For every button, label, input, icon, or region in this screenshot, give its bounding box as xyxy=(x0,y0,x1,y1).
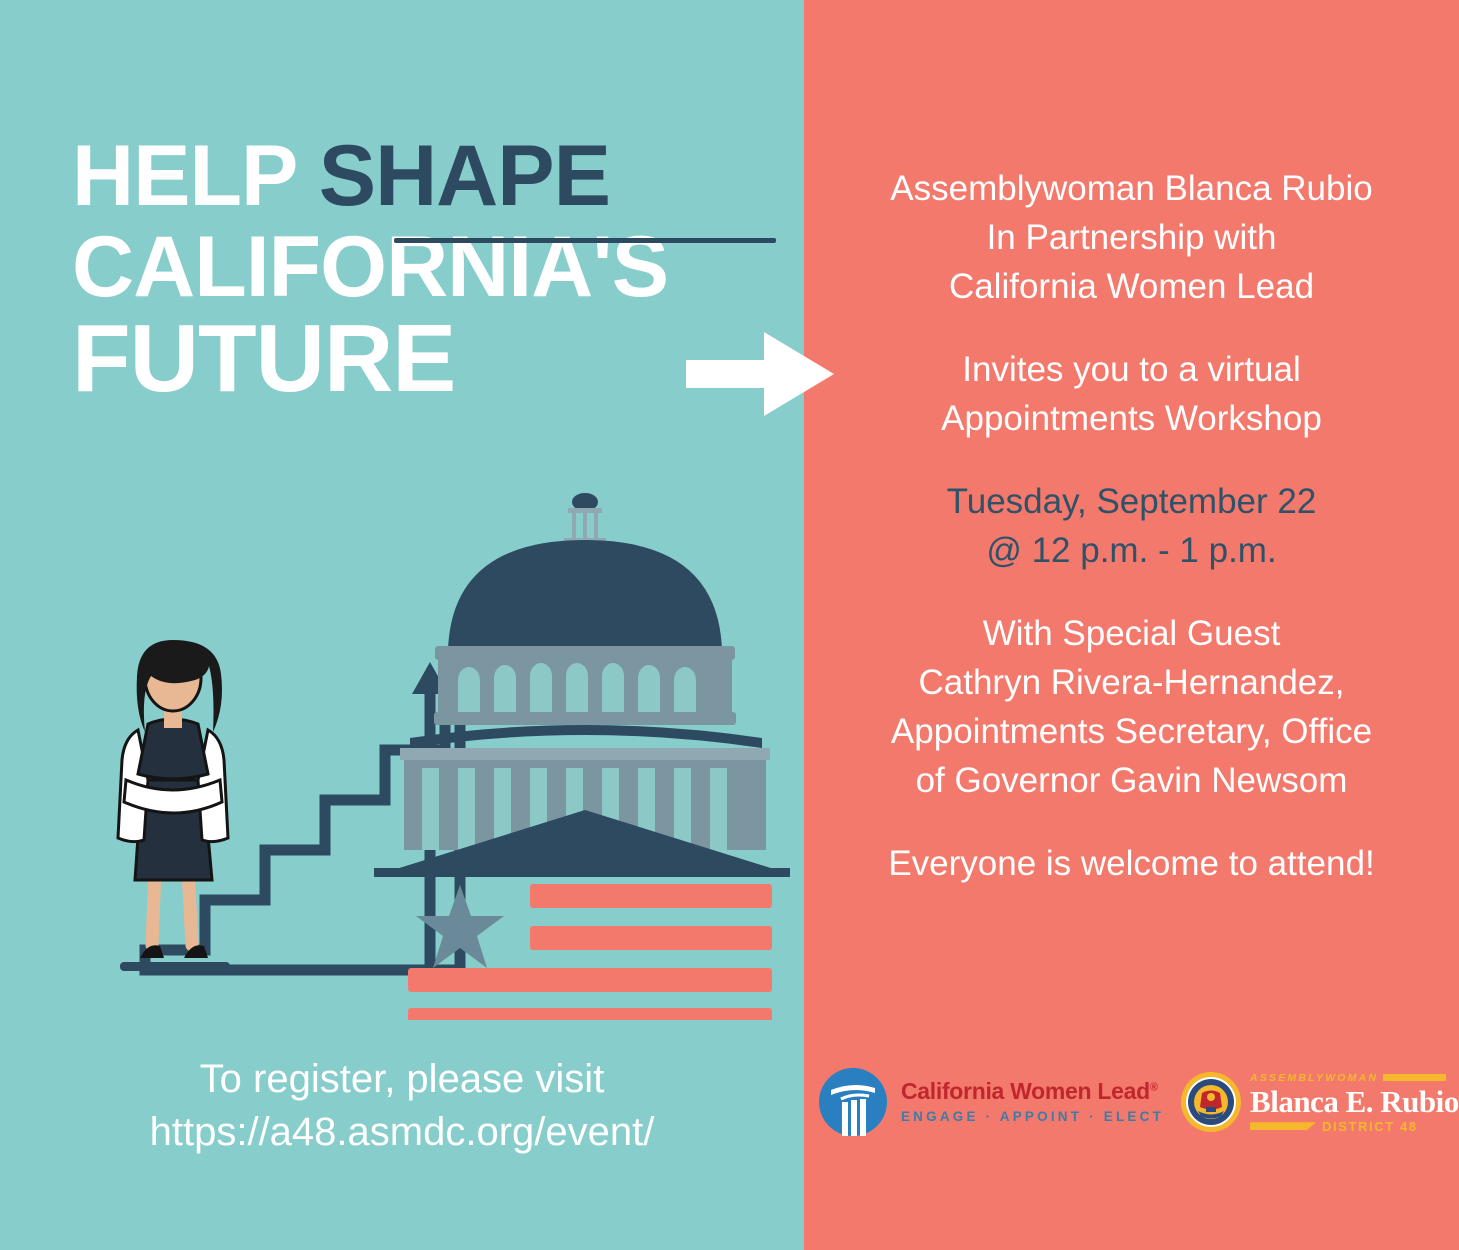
flag-stripe xyxy=(530,884,772,908)
illustration-group xyxy=(60,480,790,1020)
host-line-3: California Women Lead xyxy=(822,262,1441,311)
cwl-tagline: ENGAGE · APPOINT · ELECT xyxy=(901,1110,1164,1124)
businesswoman-figure-icon xyxy=(118,640,230,971)
flag-stripe xyxy=(530,926,772,950)
register-prompt: To register, please visit xyxy=(0,1053,804,1106)
event-date: Tuesday, September 22 xyxy=(822,477,1441,526)
rubio-eyebrow: ASSEMBLYWOMAN xyxy=(1250,1072,1378,1084)
register-url[interactable]: https://a48.asmdc.org/event/ xyxy=(0,1106,804,1159)
host-line-2: In Partnership with xyxy=(822,213,1441,262)
invite-block-datetime: Tuesday, September 22 @ 12 p.m. - 1 p.m. xyxy=(822,477,1441,575)
california-state-assembly-seal-icon xyxy=(1180,1071,1242,1133)
headline: HELP SHAPE CALIFORNIA'S FUTURE xyxy=(72,136,792,404)
invite-block-guest: With Special Guest Cathryn Rivera-Hernan… xyxy=(822,609,1441,805)
logo-row: California Women Lead® ENGAGE · APPOINT … xyxy=(804,1042,1459,1162)
registered-mark-icon: ® xyxy=(1150,1082,1158,1094)
invite-block-host: Assemblywoman Blanca Rubio In Partnershi… xyxy=(822,164,1441,311)
event-line-1: Invites you to a virtual xyxy=(822,345,1441,394)
guest-line-4: of Governor Gavin Newsom xyxy=(822,756,1441,805)
welcome-line: Everyone is welcome to attend! xyxy=(822,839,1441,888)
rubio-name: Blanca E. Rubio xyxy=(1250,1086,1446,1119)
registration-info: To register, please visit https://a48.as… xyxy=(0,1053,804,1159)
headline-future-word: FUTURE xyxy=(72,305,455,412)
event-flyer: HELP SHAPE CALIFORNIA'S FUTURE xyxy=(0,0,1459,1250)
rubio-gold-bar-top xyxy=(1383,1074,1446,1081)
event-line-2: Appointments Workshop xyxy=(822,394,1441,443)
flag-stripe xyxy=(408,1008,772,1020)
rubio-wordmark: ASSEMBLYWOMAN Blanca E. Rubio DISTRICT 4… xyxy=(1250,1071,1446,1134)
guest-line-2: Cathryn Rivera-Hernandez, xyxy=(822,658,1441,707)
host-line-1: Assemblywoman Blanca Rubio xyxy=(822,164,1441,213)
headline-line-3: FUTURE xyxy=(72,314,792,404)
headline-shape-word: SHAPE xyxy=(319,128,610,224)
headline-help-word: HELP xyxy=(72,128,319,224)
cwl-title: California Women Lead® xyxy=(901,1080,1164,1103)
rubio-district-row: DISTRICT 48 xyxy=(1250,1119,1446,1133)
flag-stripe xyxy=(408,968,772,992)
california-women-lead-logo: California Women Lead® ENGAGE · APPOINT … xyxy=(817,1066,1164,1138)
invite-block-event: Invites you to a virtual Appointments Wo… xyxy=(822,345,1441,443)
cwl-wordmark: California Women Lead® ENGAGE · APPOINT … xyxy=(901,1080,1164,1124)
shape-underline xyxy=(394,238,776,243)
guest-line-1: With Special Guest xyxy=(822,609,1441,658)
invite-block-welcome: Everyone is welcome to attend! xyxy=(822,839,1441,888)
rubio-gold-bar-bottom xyxy=(1250,1122,1316,1130)
headline-line-1: HELP SHAPE xyxy=(72,136,792,217)
rubio-eyebrow-row: ASSEMBLYWOMAN xyxy=(1250,1071,1446,1085)
event-time: @ 12 p.m. - 1 p.m. xyxy=(822,526,1441,575)
invitation-text: Assemblywoman Blanca Rubio In Partnershi… xyxy=(804,164,1459,922)
rubio-district: DISTRICT 48 xyxy=(1322,1119,1418,1134)
column-in-circle-icon xyxy=(817,1066,889,1138)
guest-line-3: Appointments Secretary, Office xyxy=(822,707,1441,756)
blanca-rubio-logo: ASSEMBLYWOMAN Blanca E. Rubio DISTRICT 4… xyxy=(1180,1071,1446,1134)
